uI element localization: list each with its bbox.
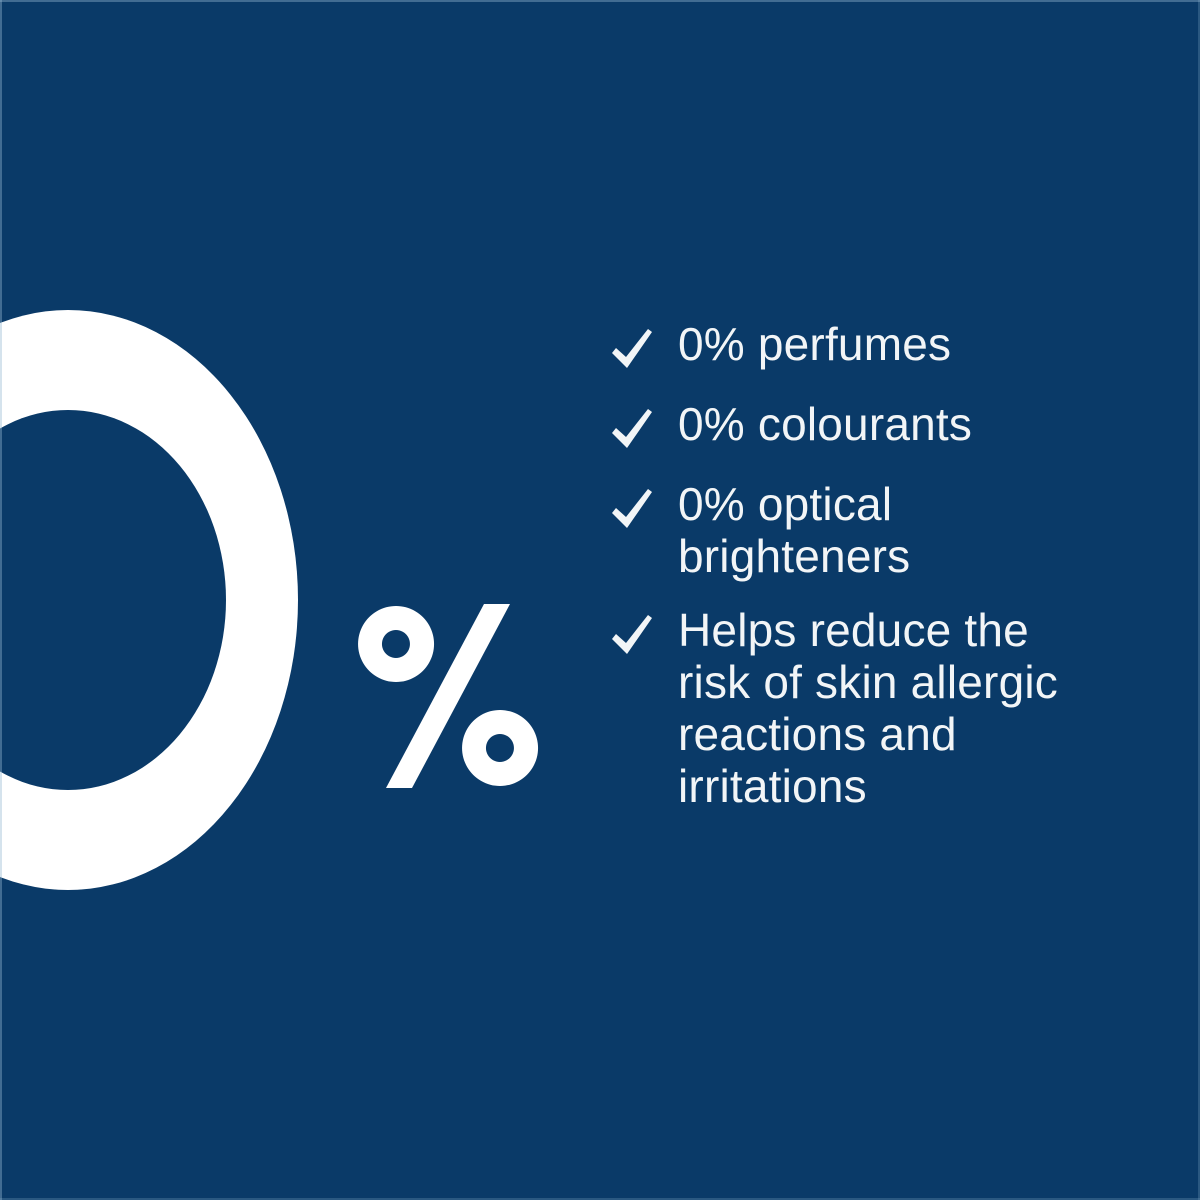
list-item-label: 0% optical brighteners <box>678 478 910 582</box>
list-item-label: 0% perfumes <box>678 318 951 370</box>
list-item: Helps reduce the risk of skin allergic r… <box>608 604 1148 812</box>
list-item-label: 0% colourants <box>678 398 972 450</box>
zero-glyph-mark <box>0 310 298 890</box>
list-item: 0% optical brighteners <box>608 478 1148 582</box>
check-mark-icon <box>608 610 656 662</box>
product-claims-graphic: 0% perfumes 0% colourants 0% optical bri… <box>0 0 1200 1200</box>
percent-glyph-mark <box>352 600 544 792</box>
list-item: 0% colourants <box>608 398 1148 456</box>
list-item-label: Helps reduce the risk of skin allergic r… <box>678 604 1058 812</box>
check-mark-icon <box>608 404 656 456</box>
claims-list: 0% perfumes 0% colourants 0% optical bri… <box>608 318 1148 834</box>
list-item: 0% perfumes <box>608 318 1148 376</box>
check-mark-icon <box>608 484 656 536</box>
check-mark-icon <box>608 324 656 376</box>
